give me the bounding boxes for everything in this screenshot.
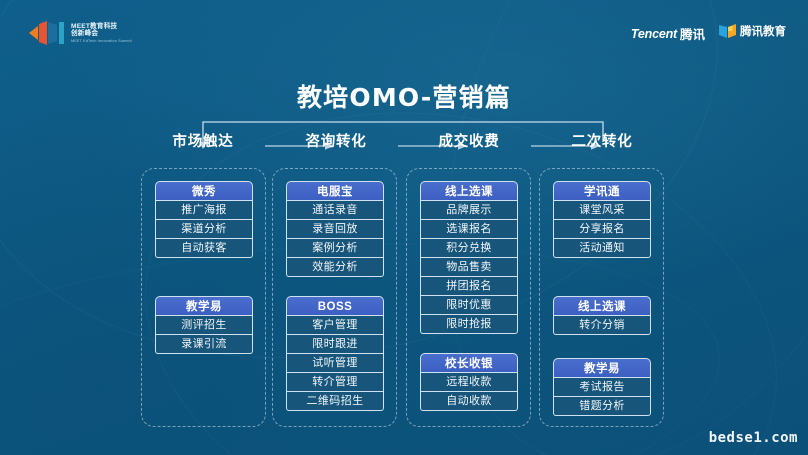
product-card-title[interactable]: 电服宝 [286, 181, 384, 201]
product-column: 线上选课品牌展示选课报名积分兑换物品售卖拼团报名限时优惠限时抢报校长收银远程收款… [406, 168, 531, 427]
product-card[interactable]: 线上选课转介分销 [553, 296, 651, 335]
product-card-title[interactable]: 微秀 [155, 181, 253, 201]
product-columns: 微秀推广海报渠道分析自动获客教学易测评招生录课引流电服宝通话录音录音回放案例分析… [0, 0, 808, 455]
product-feature-row[interactable]: 选课报名 [420, 220, 518, 239]
product-feature-row[interactable]: 自动收款 [420, 392, 518, 411]
product-card-title[interactable]: 教学易 [553, 358, 651, 378]
product-card[interactable]: 学讯通课堂风采分享报名活动通知 [553, 181, 651, 258]
product-card[interactable]: 电服宝通话录音录音回放案例分析效能分析 [286, 181, 384, 277]
product-feature-row[interactable]: 限时抢报 [420, 315, 518, 334]
product-feature-row[interactable]: 远程收款 [420, 373, 518, 392]
product-feature-row[interactable]: 案例分析 [286, 239, 384, 258]
product-card-title[interactable]: 学讯通 [553, 181, 651, 201]
product-column: 学讯通课堂风采分享报名活动通知线上选课转介分销教学易考试报告错题分析 [539, 168, 664, 427]
product-feature-row[interactable]: 测评招生 [155, 316, 253, 335]
product-feature-row[interactable]: 试听管理 [286, 354, 384, 373]
product-feature-row[interactable]: 通话录音 [286, 201, 384, 220]
slide-canvas: MEET教育科技 创新峰会 MEET EdTech Innovation Sum… [0, 0, 808, 455]
product-feature-row[interactable]: 物品售卖 [420, 258, 518, 277]
product-card[interactable]: 微秀推广海报渠道分析自动获客 [155, 181, 253, 258]
product-feature-row[interactable]: 渠道分析 [155, 220, 253, 239]
product-card-title[interactable]: 教学易 [155, 296, 253, 316]
product-card[interactable]: 线上选课品牌展示选课报名积分兑换物品售卖拼团报名限时优惠限时抢报 [420, 181, 518, 334]
product-feature-row[interactable]: 限时优惠 [420, 296, 518, 315]
product-feature-row[interactable]: 积分兑换 [420, 239, 518, 258]
product-feature-row[interactable]: 分享报名 [553, 220, 651, 239]
product-card[interactable]: BOSS客户管理限时跟进试听管理转介管理二维码招生 [286, 296, 384, 411]
product-feature-row[interactable]: 推广海报 [155, 201, 253, 220]
product-card[interactable]: 教学易测评招生录课引流 [155, 296, 253, 354]
product-card[interactable]: 校长收银远程收款自动收款 [420, 353, 518, 411]
product-card-title[interactable]: 线上选课 [420, 181, 518, 201]
product-feature-row[interactable]: 拼团报名 [420, 277, 518, 296]
product-feature-row[interactable]: 录音回放 [286, 220, 384, 239]
product-column: 微秀推广海报渠道分析自动获客教学易测评招生录课引流 [141, 168, 266, 427]
product-feature-row[interactable]: 限时跟进 [286, 335, 384, 354]
product-card-title[interactable]: BOSS [286, 296, 384, 316]
product-feature-row[interactable]: 转介管理 [286, 373, 384, 392]
product-column: 电服宝通话录音录音回放案例分析效能分析BOSS客户管理限时跟进试听管理转介管理二… [272, 168, 397, 427]
product-feature-row[interactable]: 自动获客 [155, 239, 253, 258]
product-feature-row[interactable]: 转介分销 [553, 316, 651, 335]
product-feature-row[interactable]: 错题分析 [553, 397, 651, 416]
product-feature-row[interactable]: 效能分析 [286, 258, 384, 277]
product-feature-row[interactable]: 客户管理 [286, 316, 384, 335]
product-feature-row[interactable]: 活动通知 [553, 239, 651, 258]
product-card[interactable]: 教学易考试报告错题分析 [553, 358, 651, 416]
watermark: bedse1.com [709, 430, 798, 446]
product-feature-row[interactable]: 录课引流 [155, 335, 253, 354]
product-feature-row[interactable]: 课堂风采 [553, 201, 651, 220]
product-card-title[interactable]: 校长收银 [420, 353, 518, 373]
product-feature-row[interactable]: 二维码招生 [286, 392, 384, 411]
product-feature-row[interactable]: 考试报告 [553, 378, 651, 397]
product-feature-row[interactable]: 品牌展示 [420, 201, 518, 220]
product-card-title[interactable]: 线上选课 [553, 296, 651, 316]
